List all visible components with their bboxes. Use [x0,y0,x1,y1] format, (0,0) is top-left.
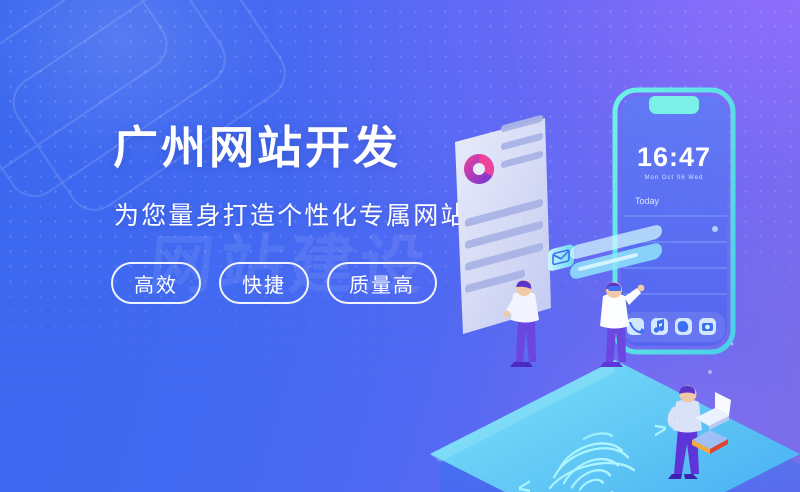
camera-icon [702,323,713,331]
smartphone: 16:47 Mon Oct 06 Wed Today [615,90,733,352]
document-panel [455,114,551,334]
pie-chart-icon [464,154,494,184]
feature-tag-1[interactable]: 高效 [111,262,201,304]
feature-tag-2[interactable]: 快捷 [219,262,309,304]
isometric-platform [430,360,800,492]
phone-time: 16:47 [637,142,711,172]
left-chevron-icon: < [518,473,531,492]
isometric-illustration: < > 16:47 M [400,72,800,492]
phone-date: Mon Oct 06 Wed [645,175,704,181]
right-chevron-icon: > [654,416,667,443]
phone-today-label: Today [635,196,660,206]
phone-dock [623,312,725,342]
promo-banner: 网站建设 广州网站开发 为您量身打造个性化专属网站 高效 快捷 质量高 [0,0,800,492]
